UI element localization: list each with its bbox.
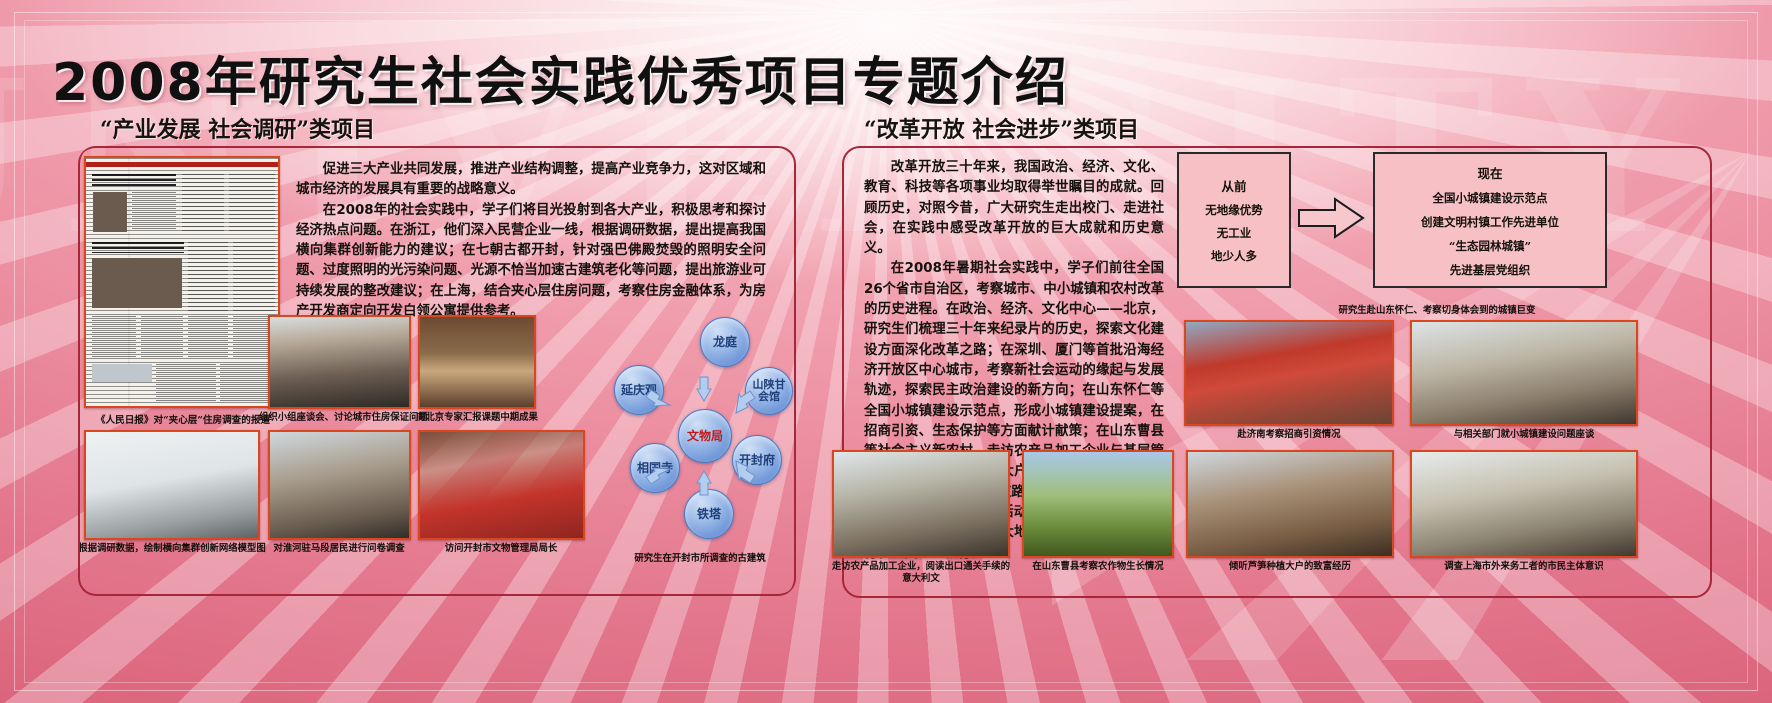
left-body-text: 促进三大产业共同发展，推进产业结构调整，提高产业竞争力，这对区域和城市经济的发展… — [296, 160, 766, 322]
after-line-3: “生态园林城镇” — [1449, 238, 1531, 254]
photo-crop-growth-survey — [1022, 450, 1174, 558]
diagram-node-center: 文物局 — [678, 409, 732, 463]
diagram-node-xiangguosi: 相国寺 — [630, 443, 680, 493]
before-header: 从前 — [1221, 176, 1246, 195]
photo-whiteboard-network — [84, 430, 260, 540]
diagram-node-longting: 龙庭 — [700, 317, 750, 367]
caption-group-discussion: 组织小组座谈会、讨论城市住房保证问题 — [259, 412, 419, 424]
photo-card-group-discussion: 组织小组座谈会、讨论城市住房保证问题 — [268, 315, 419, 424]
relics-diagram: 龙庭 山陕甘会馆 开封府 铁塔 相国寺 延庆观 文物局 — [608, 317, 793, 552]
caption-agro-processing-visit: 走访农产品加工企业，阅读出口通关手续的意大利文 — [828, 561, 1014, 585]
left-section-title: “产业发展 社会调研”类项目 — [100, 112, 798, 144]
right-column: “改革开放 社会进步”类项目 改革开放三十年来，我国政治、经济、文化、教育、科技… — [832, 112, 1712, 154]
before-after-caption: 研究生赴山东怀仁、考察切身体会到的城镇巨变 — [1177, 302, 1697, 316]
after-header: 现在 — [1477, 163, 1502, 182]
diagram-node-shanshaangan: 山陕甘会馆 — [745, 367, 793, 415]
photo-card-town-construction-talk: 与相关部门就小城镇建设问题座谈 — [1410, 320, 1638, 441]
photo-card-shanghai-migrant-survey: 调查上海市外来务工者的市民主体意识 — [1410, 450, 1638, 573]
photo-card-investment-promotion: 赴济南考察招商引资情况 — [1184, 320, 1394, 441]
before-line-3: 地少人多 — [1211, 248, 1257, 264]
caption-town-construction-talk: 与相关部门就小城镇建设问题座谈 — [1410, 429, 1638, 441]
before-line-2: 无工业 — [1217, 225, 1252, 241]
photo-card-asparagus-grower: 倾听芦笋种植大户的致富经历 — [1186, 450, 1394, 573]
photo-beijing-expert-meeting — [418, 315, 536, 409]
right-paragraph-1: 改革开放三十年来，我国政治、经济、文化、教育、科技等各项事业均取得举世瞩目的成就… — [864, 158, 1164, 259]
after-box: 现在 全国小城镇建设示范点 创建文明村镇工作先进单位 “生态园林城镇” 先进基层… — [1373, 152, 1607, 288]
caption-kaifeng-relics-bureau: 访问开封市文物管理局局长 — [411, 543, 591, 555]
caption-crop-growth-survey: 在山东曹县考察农作物生长情况 — [1010, 561, 1186, 573]
photo-kaifeng-relics-bureau — [418, 430, 585, 540]
photo-town-construction-talk — [1410, 320, 1638, 426]
poster-title-wrap: 2008年研究生社会实践优秀项目专题介绍 — [52, 40, 1069, 115]
photo-huaihe-survey — [268, 430, 411, 540]
diagram-node-kaifengfu: 开封府 — [732, 435, 782, 485]
poster-canvas: UNIVERSITY 2008年研究生社会实践优秀项目专题介绍 “产业发展 社会… — [0, 0, 1772, 703]
caption-beijing-expert-meeting: 向北京专家汇报课题中期成果 — [407, 412, 547, 424]
diagram-caption: 研究生在开封市所调查的古建筑 — [600, 553, 800, 565]
newspaper-scan — [84, 156, 280, 408]
after-line-1: 全国小城镇建设示范点 — [1433, 190, 1548, 206]
photo-card-kaifeng-relics-bureau: 访问开封市文物管理局局长 — [418, 430, 591, 555]
photo-asparagus-grower — [1186, 450, 1394, 558]
left-paragraph-1: 促进三大产业共同发展，推进产业结构调整，提高产业竞争力，这对区域和城市经济的发展… — [296, 160, 766, 201]
photo-card-beijing-expert-meeting: 向北京专家汇报课题中期成果 — [418, 315, 547, 424]
left-column: “产业发展 社会调研”类项目 — [68, 112, 798, 154]
caption-asparagus-grower: 倾听芦笋种植大户的致富经历 — [1186, 561, 1394, 573]
after-line-2: 创建文明村镇工作先进单位 — [1421, 214, 1559, 230]
right-arrow-icon — [1297, 196, 1367, 242]
diagram-node-yanqingguan: 延庆观 — [614, 365, 664, 415]
photo-card-agro-processing-visit: 走访农产品加工企业，阅读出口通关手续的意大利文 — [832, 450, 1014, 585]
caption-huaihe-survey: 对淮河驻马段居民进行问卷调查 — [259, 543, 419, 555]
left-paragraph-2: 在2008年的社会实践中，学子们将目光投射到各大产业，积极思考和探讨经济热点问题… — [296, 201, 766, 323]
photo-shanghai-migrant-survey — [1410, 450, 1638, 558]
photo-investment-promotion — [1184, 320, 1394, 426]
photo-card-whiteboard-network: 根据调研数据，绘制横向集群创新网络模型图 — [84, 430, 270, 555]
diagram-node-tieta: 铁塔 — [684, 489, 734, 539]
before-after-diagram: 从前 无地缘优势 无工业 地少人多 现在 全国小城镇建设示范点 创建文明村镇工作… — [1177, 150, 1697, 300]
caption-investment-promotion: 赴济南考察招商引资情况 — [1184, 429, 1394, 441]
photo-card-crop-growth-survey: 在山东曹县考察农作物生长情况 — [1022, 450, 1186, 573]
photo-group-discussion — [268, 315, 411, 409]
right-section-title: “改革开放 社会进步”类项目 — [864, 112, 1712, 144]
photo-card-huaihe-survey: 对淮河驻马段居民进行问卷调查 — [268, 430, 419, 555]
page-title: 2008年研究生社会实践优秀项目专题介绍 — [52, 40, 1069, 115]
before-line-1: 无地缘优势 — [1205, 202, 1263, 218]
after-line-4: 先进基层党组织 — [1450, 262, 1531, 278]
caption-shanghai-migrant-survey: 调查上海市外来务工者的市民主体意识 — [1410, 561, 1638, 573]
before-box: 从前 无地缘优势 无工业 地少人多 — [1177, 152, 1291, 288]
caption-whiteboard-network: 根据调研数据，绘制横向集群创新网络模型图 — [74, 543, 270, 555]
photo-agro-processing-visit — [832, 450, 1010, 558]
